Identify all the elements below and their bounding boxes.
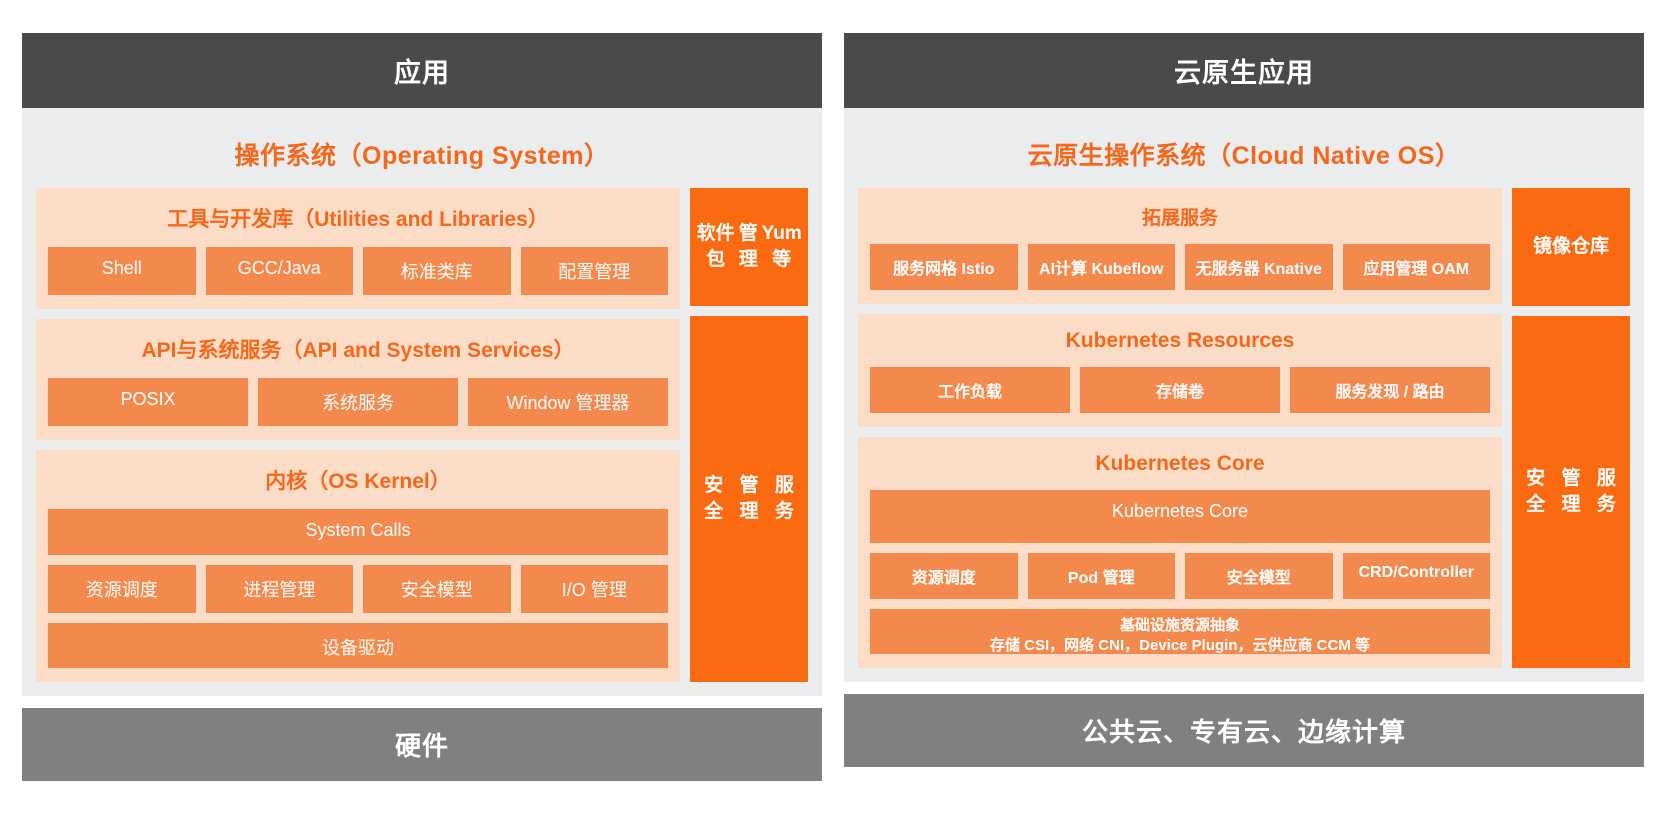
chip-io-management[interactable]: I/O 管理: [521, 565, 669, 613]
side-box-package-management[interactable]: 软件包 管理 Yum等: [690, 188, 808, 306]
chip-system-calls[interactable]: System Calls: [48, 509, 668, 555]
infrastructure-abstraction-title: 基础设施资源抽象: [874, 616, 1486, 636]
chip-row-api: POSIX 系统服务 Window 管理器: [48, 378, 668, 426]
os-side-left: 软件包 管理 Yum等 安全 管理 服务: [690, 188, 808, 682]
chip-posix[interactable]: POSIX: [48, 378, 248, 426]
os-main-left: 工具与开发库（Utilities and Libraries） Shell GC…: [36, 188, 680, 682]
side-box-image-registry[interactable]: 镜像 仓库: [1512, 188, 1630, 306]
section-os-kernel: 内核（OS Kernel） System Calls 资源调度 进程管理 安全模…: [36, 450, 680, 682]
infrastructure-abstraction-detail: 存储 CSI，网络 CNI，Device Plugin，云供应商 CCM 等: [874, 636, 1486, 655]
os-side-right: 镜像 仓库 安全 管理 服务: [1512, 188, 1630, 668]
side-box-image-registry-line1: 镜像: [1533, 234, 1571, 260]
os-title-left: 操作系统（Operating System）: [36, 122, 808, 188]
chip-shell[interactable]: Shell: [48, 247, 196, 295]
chip-ai-kubeflow[interactable]: AI计算 Kubeflow: [1028, 244, 1176, 290]
chip-resource-scheduling-k8s[interactable]: 资源调度: [870, 553, 1018, 599]
panel-footer-hardware: 硬件: [22, 708, 822, 781]
section-utilities-libraries: 工具与开发库（Utilities and Libraries） Shell GC…: [36, 188, 680, 309]
section-title-utilities: 工具与开发库（Utilities and Libraries）: [48, 200, 668, 237]
side-box-security-right-line2: 管理: [1553, 466, 1588, 517]
chip-resource-scheduling[interactable]: 资源调度: [48, 565, 196, 613]
section-title-api: API与系统服务（API and System Services）: [48, 331, 668, 368]
section-title-extension-services: 拓展服务: [870, 200, 1490, 234]
chip-storage-volume[interactable]: 存储卷: [1080, 367, 1280, 413]
chip-window-manager[interactable]: Window 管理器: [468, 378, 668, 426]
architecture-diagram: 应用 操作系统（Operating System） 工具与开发库（Utiliti…: [0, 0, 1666, 827]
chip-system-services[interactable]: 系统服务: [258, 378, 458, 426]
side-box-security-right-line3: 服务: [1589, 466, 1624, 517]
chip-serverless-knative[interactable]: 无服务器 Knative: [1185, 244, 1333, 290]
section-api-system-services: API与系统服务（API and System Services） POSIX …: [36, 319, 680, 440]
chip-infrastructure-abstraction[interactable]: 基础设施资源抽象 存储 CSI，网络 CNI，Device Plugin，云供应…: [870, 609, 1490, 654]
section-kubernetes-core: Kubernetes Core Kubernetes Core 资源调度 Pod…: [858, 437, 1502, 668]
panel-header-cloud-native-application: 云原生应用: [844, 33, 1644, 108]
chip-app-management-oam[interactable]: 应用管理 OAM: [1343, 244, 1491, 290]
section-extension-services: 拓展服务 服务网格 Istio AI计算 Kubeflow 无服务器 Knati…: [858, 188, 1502, 304]
chip-standard-library[interactable]: 标准类库: [363, 247, 511, 295]
chip-row-kernel: 资源调度 进程管理 安全模型 I/O 管理: [48, 565, 668, 613]
side-box-package-line1: 软件包: [696, 221, 735, 272]
chip-security-model-k8s[interactable]: 安全模型: [1185, 553, 1333, 599]
chip-workload[interactable]: 工作负载: [870, 367, 1070, 413]
os-main-right: 拓展服务 服务网格 Istio AI计算 Kubeflow 无服务器 Knati…: [858, 188, 1502, 668]
panel-traditional-os: 应用 操作系统（Operating System） 工具与开发库（Utiliti…: [22, 33, 822, 767]
section-title-kernel: 内核（OS Kernel）: [48, 462, 668, 499]
os-title-right: 云原生操作系统（Cloud Native OS）: [858, 122, 1630, 188]
side-box-security-right-line1: 安全: [1518, 466, 1553, 517]
panel-body-right: 云原生操作系统（Cloud Native OS） 拓展服务 服务网格 Istio…: [844, 108, 1644, 682]
side-box-security-management-left[interactable]: 安全 管理 服务: [690, 316, 808, 682]
section-title-kubernetes-resources: Kubernetes Resources: [870, 326, 1490, 357]
panel-header-application: 应用: [22, 33, 822, 108]
chip-process-management[interactable]: 进程管理: [206, 565, 354, 613]
chip-kubernetes-core[interactable]: Kubernetes Core: [870, 490, 1490, 543]
side-box-package-line3: Yum等: [761, 221, 802, 272]
side-box-security-line3: 服务: [767, 473, 802, 524]
side-box-package-line2: 管理: [735, 221, 761, 272]
chip-gcc-java[interactable]: GCC/Java: [206, 247, 354, 295]
chip-security-model[interactable]: 安全模型: [363, 565, 511, 613]
os-body-right: 拓展服务 服务网格 Istio AI计算 Kubeflow 无服务器 Knati…: [858, 188, 1630, 668]
chip-service-discovery-routing[interactable]: 服务发现 / 路由: [1290, 367, 1490, 413]
side-box-security-line2: 管理: [731, 473, 766, 524]
panel-body-left: 操作系统（Operating System） 工具与开发库（Utilities …: [22, 108, 822, 696]
side-box-security-management-right[interactable]: 安全 管理 服务: [1512, 316, 1630, 668]
section-title-kubernetes-core: Kubernetes Core: [870, 449, 1490, 480]
chip-pod-management[interactable]: Pod 管理: [1028, 553, 1176, 599]
os-body-left: 工具与开发库（Utilities and Libraries） Shell GC…: [36, 188, 808, 682]
chip-service-mesh-istio[interactable]: 服务网格 Istio: [870, 244, 1018, 290]
side-box-security-line1: 安全: [696, 473, 731, 524]
chip-device-drivers[interactable]: 设备驱动: [48, 623, 668, 669]
side-box-image-registry-line2: 仓库: [1571, 234, 1609, 260]
chip-row-utilities: Shell GCC/Java 标准类库 配置管理: [48, 247, 668, 295]
chip-row-extension-services: 服务网格 Istio AI计算 Kubeflow 无服务器 Knative 应用…: [870, 244, 1490, 290]
chip-row-kubernetes-core: 资源调度 Pod 管理 安全模型 CRD/Controller: [870, 553, 1490, 599]
section-kubernetes-resources: Kubernetes Resources 工作负载 存储卷 服务发现 / 路由: [858, 314, 1502, 427]
panel-footer-cloud: 公共云、专有云、边缘计算: [844, 694, 1644, 767]
panel-cloud-native-os: 云原生应用 云原生操作系统（Cloud Native OS） 拓展服务 服务网格…: [844, 33, 1644, 767]
chip-crd-controller[interactable]: CRD/Controller: [1343, 553, 1491, 599]
chip-config-management[interactable]: 配置管理: [521, 247, 669, 295]
chip-row-kubernetes-resources: 工作负载 存储卷 服务发现 / 路由: [870, 367, 1490, 413]
